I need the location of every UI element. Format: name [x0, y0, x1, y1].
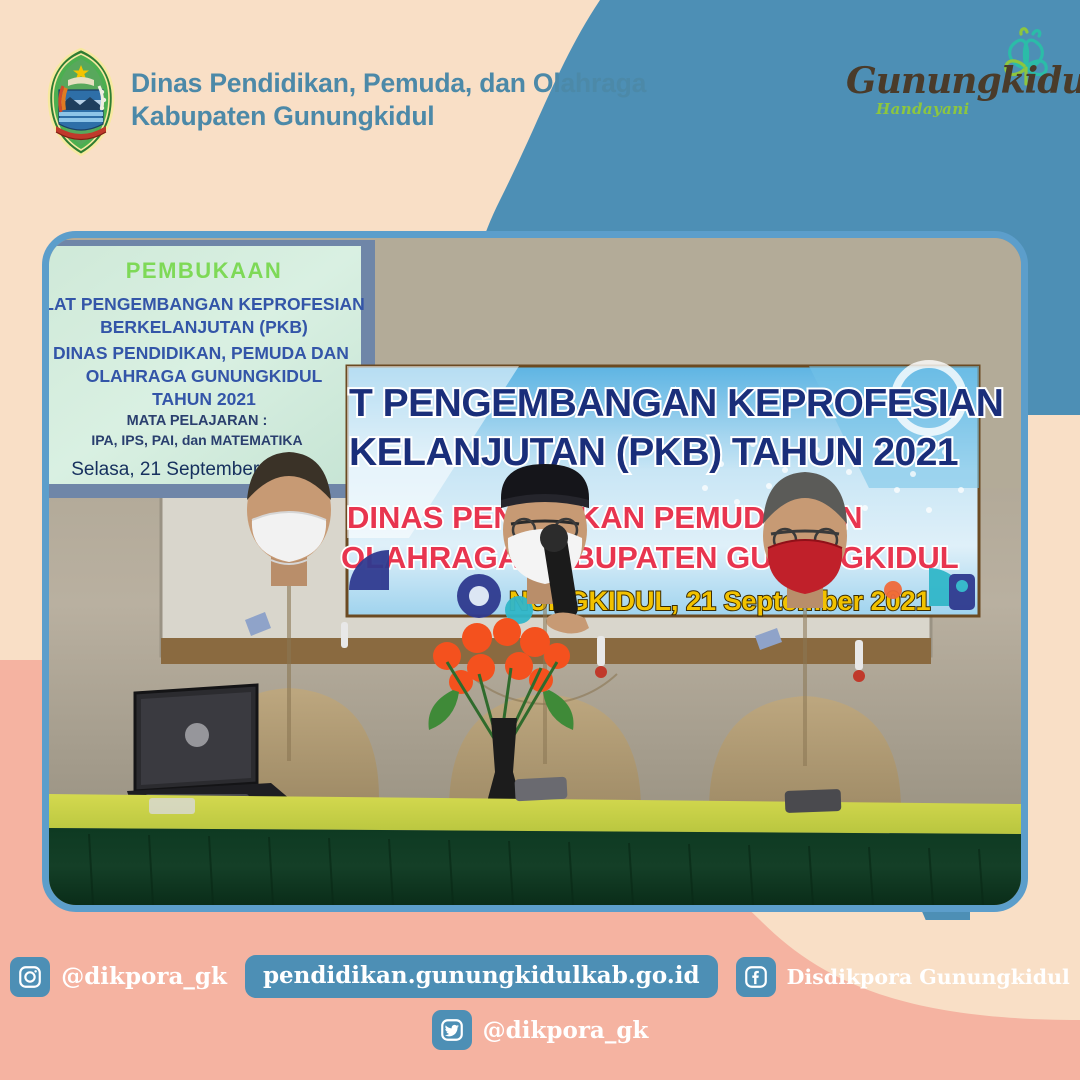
svg-text:DINAS PENDIDIKAN, PEMUDA DAN: DINAS PENDIDIKAN, PEMUDA DAN — [53, 343, 349, 363]
svg-text:KELANJUTAN (PKB) TAHUN 2021: KELANJUTAN (PKB) TAHUN 2021 — [349, 431, 958, 474]
projector-screen: PEMBUKAAN LAT PENGEMBANGAN KEPROFESIAN B… — [49, 240, 375, 498]
poster-header: Dinas Pendidikan, Pemuda, dan Olahraga K… — [0, 0, 1080, 200]
twitter-icon[interactable] — [432, 1010, 472, 1050]
header-title: Dinas Pendidikan, Pemuda, dan Olahraga K… — [131, 68, 691, 133]
svg-text:BERKELANJUTAN (PKB): BERKELANJUTAN (PKB) — [100, 317, 308, 337]
svg-text:LAT PENGEMBANGAN KEPROFESIAN: LAT PENGEMBANGAN KEPROFESIAN — [49, 294, 365, 314]
svg-text:T PENGEMBANGAN KEPROFESIAN: T PENGEMBANGAN KEPROFESIAN — [349, 382, 1003, 425]
twitter-handle[interactable]: @dikpora_gk — [483, 1017, 649, 1044]
poster-canvas: Dinas Pendidikan, Pemuda, dan Olahraga K… — [0, 0, 1080, 1080]
brand-wordmark: Gunungkidul — [846, 60, 1036, 102]
svg-text:PEMBUKAAN: PEMBUKAAN — [126, 258, 283, 283]
instagram-icon[interactable] — [10, 957, 50, 997]
smartphone-left — [514, 777, 567, 802]
event-photo: PEMBUKAAN LAT PENGEMBANGAN KEPROFESIAN B… — [49, 238, 1021, 905]
gunungkidul-regency-crest-icon — [44, 48, 118, 156]
svg-text:OLAHRAGA KABUPATEN GUNUNGKIDUL: OLAHRAGA KABUPATEN GUNUNGKIDUL — [341, 540, 959, 575]
footer-row-secondary: @dikpora_gk — [0, 1010, 1080, 1050]
event-photo-card: PEMBUKAAN LAT PENGEMBANGAN KEPROFESIAN B… — [42, 231, 1028, 912]
svg-text:TAHUN 2021: TAHUN 2021 — [152, 389, 256, 409]
gunungkidul-brand-logo: Gunungkidul Handayani — [846, 34, 1058, 130]
header-title-line-2: Kabupaten Gunungkidul — [131, 101, 691, 132]
facebook-page-name[interactable]: Disdikpora Gunungkidul — [787, 965, 1070, 989]
header-title-line-1: Dinas Pendidikan, Pemuda, dan Olahraga — [131, 68, 691, 99]
footer-social-bar: @dikpora_gk pendidikan.gunungkidulkab.go… — [0, 940, 1080, 1080]
website-url-pill[interactable]: pendidikan.gunungkidulkab.go.id — [245, 955, 718, 998]
brand-tagline: Handayani — [876, 100, 970, 118]
svg-text:OLAHRAGA GUNUNGKIDUL: OLAHRAGA GUNUNGKIDUL — [86, 366, 323, 386]
svg-text:MATA PELAJARAN :: MATA PELAJARAN : — [127, 413, 268, 429]
instagram-handle[interactable]: @dikpora_gk — [61, 963, 227, 990]
svg-text:IPA, IPS, PAI, dan MATEMATIKA: IPA, IPS, PAI, dan MATEMATIKA — [91, 432, 302, 448]
smartphone-right — [785, 789, 842, 813]
facebook-icon[interactable] — [736, 957, 776, 997]
event-banner: T PENGEMBANGAN KEPROFESIAN KELANJUTAN (P… — [341, 364, 1003, 624]
footer-row-primary: @dikpora_gk pendidikan.gunungkidulkab.go… — [0, 955, 1080, 998]
